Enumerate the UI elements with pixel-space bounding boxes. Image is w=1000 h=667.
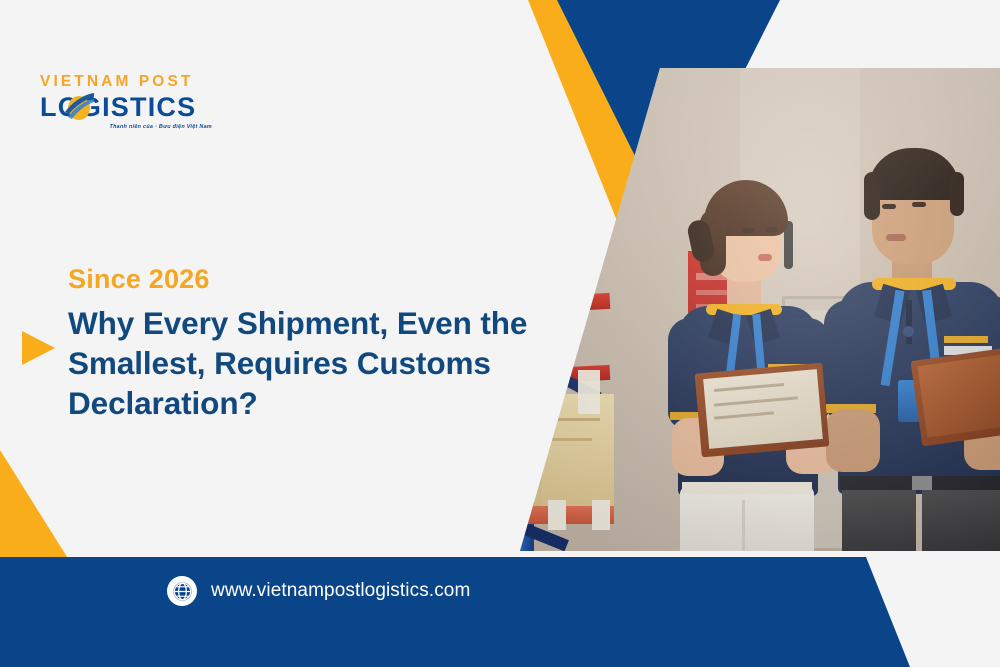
- logo-line-vietnam-post: VIETNAM POST: [40, 74, 230, 90]
- headline-block: Since 2026 Why Every Shipment, Even the …: [68, 264, 588, 423]
- swoosh-globe-icon: [64, 93, 94, 121]
- logo-line-logistics: LOGISTICS: [40, 94, 230, 121]
- globe-icon: [167, 576, 197, 606]
- website-url-text: www.vietnampostlogistics.com: [211, 580, 470, 602]
- marketing-banner: VIETNAM POST LOGISTICS Thanh niên của · …: [0, 0, 1000, 667]
- bottom-blue-footer-bar: [0, 557, 910, 667]
- footer-website[interactable]: www.vietnampostlogistics.com: [167, 576, 470, 606]
- play-triangle-icon: [22, 331, 55, 365]
- headline-title: Why Every Shipment, Even the Smallest, R…: [68, 303, 588, 423]
- headline-eyebrow: Since 2026: [68, 264, 588, 294]
- logo-tagline: Thanh niên của · Bưu điện Việt Nam: [40, 124, 230, 130]
- brand-logo[interactable]: VIETNAM POST LOGISTICS Thanh niên của · …: [40, 74, 230, 130]
